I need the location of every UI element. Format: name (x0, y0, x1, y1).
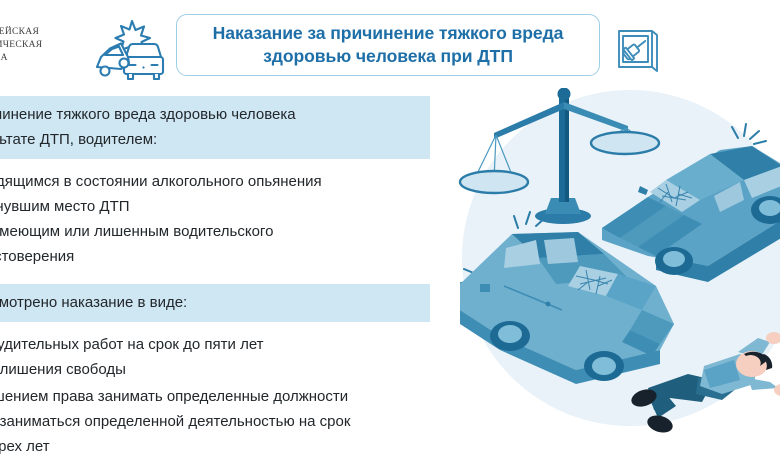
page-title-line-2: здоровью человека при ДТП (263, 46, 513, 66)
company-logo: ЕВРОПЕЙСКАЯ ЮРИДИЧЕСКАЯ СЛУЖБА (0, 26, 86, 65)
list-item: или лишения свободы (0, 357, 430, 382)
spacer (0, 322, 430, 332)
car-accident-scene-illustration (452, 88, 780, 438)
intro-line-1: За причинение тяжкого вреда здоровью чел… (0, 102, 430, 127)
page-title-box: Наказание за причинение тяжкого вреда зд… (176, 14, 600, 76)
penalty-highlight-band: Предусмотрено наказание в виде: (0, 284, 430, 322)
penalties-list: принудительных работ на срок до пяти лет… (0, 332, 430, 459)
content-column: За причинение тяжкого вреда здоровью чел… (0, 96, 430, 459)
list-item: покинувшим место ДТП (0, 194, 430, 219)
intro-highlight-band: За причинение тяжкого вреда здоровью чел… (0, 96, 430, 159)
list-item: с лишением права занимать определенные д… (0, 384, 430, 409)
list-item: принудительных работ на срок до пяти лет (0, 332, 430, 357)
car-crash-icon (88, 13, 172, 85)
page-title-line-1: Наказание за причинение тяжкого вреда (213, 23, 564, 43)
spacer (0, 269, 430, 284)
list-item: не имеющим или лишенным водительского (0, 219, 430, 244)
penalty-heading: Предусмотрено наказание в виде: (0, 290, 430, 315)
spacer (0, 159, 430, 169)
infographic-page: ЕВРОПЕЙСКАЯ ЮРИДИЧЕСКАЯ СЛУЖБА Наказание… (0, 0, 780, 470)
logo-line-2: ЮРИДИЧЕСКАЯ (0, 39, 86, 52)
intro-line-2: в результате ДТП, водителем: (0, 127, 430, 152)
law-book-gavel-icon (612, 22, 664, 78)
list-item: находящимся в состоянии алкогольного опь… (0, 169, 430, 194)
logo-line-1: ЕВРОПЕЙСКАЯ (0, 26, 86, 39)
conditions-list: находящимся в состоянии алкогольного опь… (0, 169, 430, 269)
list-item: до трех лет (0, 434, 430, 459)
logo-line-3: СЛУЖБА (0, 52, 86, 65)
list-item: или заниматься определенной деятельность… (0, 409, 430, 434)
list-item: удостоверения (0, 244, 430, 269)
page-title: Наказание за причинение тяжкого вреда зд… (213, 22, 564, 68)
